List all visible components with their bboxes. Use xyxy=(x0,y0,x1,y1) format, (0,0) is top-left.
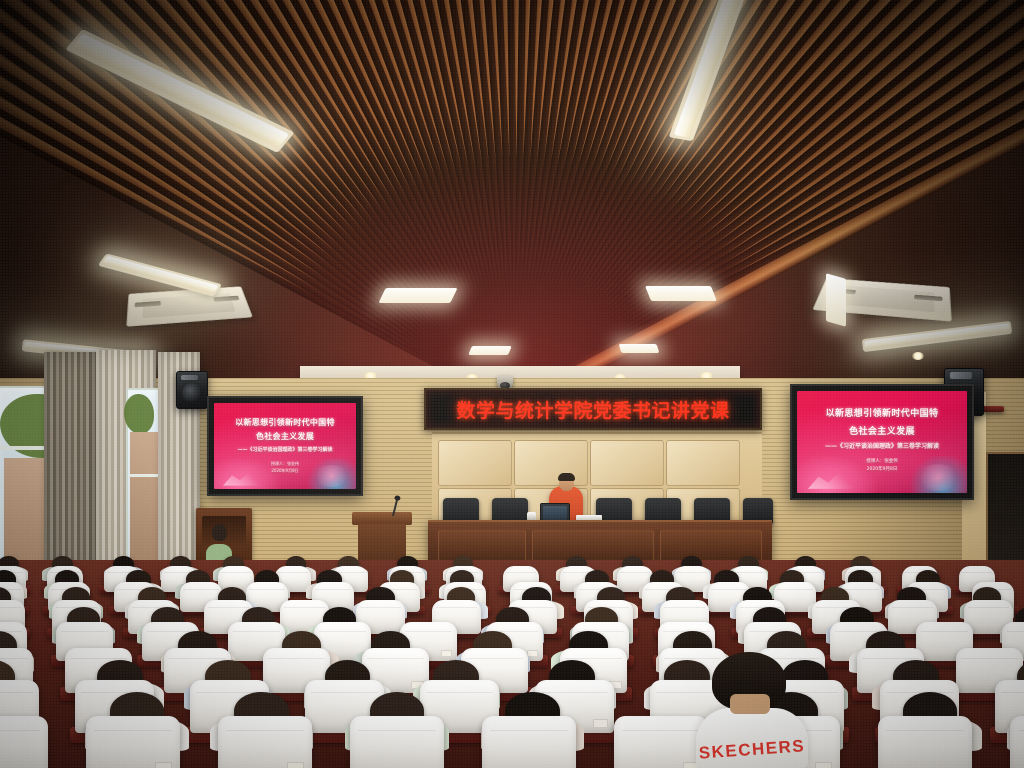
ceiling-vignette xyxy=(0,0,1024,390)
seat-seam xyxy=(886,730,965,731)
seat-number-tag xyxy=(287,762,304,768)
auditorium-seat[interactable] xyxy=(0,716,48,768)
seat-seam xyxy=(0,730,40,731)
auditorium-seat[interactable] xyxy=(218,716,312,768)
seat-seam xyxy=(268,658,324,659)
seat-seam xyxy=(367,658,423,659)
left-slide-date: 2020年9月8日 xyxy=(214,468,356,474)
seat-seam xyxy=(319,631,367,632)
led-banner: 数学与统计学院党委书记讲党课 xyxy=(424,388,762,430)
seat-seam xyxy=(426,692,492,693)
seat-seam xyxy=(921,631,969,632)
seat-back xyxy=(350,716,444,768)
right-slide-title-line1: 以新思想引领新时代中国特 xyxy=(797,406,967,419)
seat-seam xyxy=(315,589,350,590)
seat-number-tag xyxy=(815,762,832,768)
seat-seam xyxy=(278,572,308,573)
seat-seam xyxy=(70,658,126,659)
seat-seam xyxy=(664,658,720,659)
seat-number-tag xyxy=(155,762,172,768)
seat-seam xyxy=(284,607,325,608)
seat-seam xyxy=(0,692,33,693)
seat-seam xyxy=(405,631,453,632)
seat-back xyxy=(482,716,576,768)
seat-seam xyxy=(1018,730,1024,731)
seat-seam xyxy=(1007,631,1024,632)
seat-seam xyxy=(961,658,1017,659)
seat-seam xyxy=(311,692,377,693)
right-slide-date: 2020年9月8日 xyxy=(797,466,967,472)
seat-seam xyxy=(620,572,650,573)
seat-seam xyxy=(436,607,477,608)
seat-seam xyxy=(1001,692,1024,693)
seat-seam xyxy=(226,730,305,731)
side-desk-person-head xyxy=(212,524,227,541)
left-slide-subtitle: ——《习近平谈治国理政》第三卷学习解读 xyxy=(214,446,356,453)
seat-seam xyxy=(862,658,918,659)
seat-seam xyxy=(94,730,173,731)
seat-seam xyxy=(711,589,746,590)
seat-seam xyxy=(968,607,1009,608)
seat-seam xyxy=(466,658,522,659)
led-banner-text: 数学与统计学院党委书记讲党课 xyxy=(426,390,760,428)
seat-seam xyxy=(541,692,607,693)
seat-seam xyxy=(147,631,195,632)
seat-seam xyxy=(208,607,249,608)
seat-seam xyxy=(61,631,109,632)
left-led-screen[interactable]: 以新思想引领新时代中国特 色社会主义发展 ——《习近平谈治国理政》第三卷学习解读… xyxy=(207,396,363,496)
seat-back xyxy=(218,716,312,768)
right-slide-presenter: 授课人：张金伟 xyxy=(797,458,967,464)
audio-speaker-left xyxy=(176,371,208,409)
seat-seam xyxy=(622,730,701,731)
auditorium-seat[interactable] xyxy=(1010,716,1024,768)
seat-back xyxy=(878,716,972,768)
right-led-screen[interactable]: 以新思想引领新时代中国特 色社会主义发展 ——《习近平谈治国理政》第三卷学习解读… xyxy=(790,384,974,500)
right-slide-title-line2: 色社会主义发展 xyxy=(797,424,967,437)
seat-seam xyxy=(221,572,251,573)
auditorium-seat[interactable] xyxy=(350,716,444,768)
seat-seam xyxy=(249,589,284,590)
seat-seam xyxy=(0,607,21,608)
auditorium-seat[interactable] xyxy=(878,716,972,768)
left-slide-presenter: 授课人：张金伟 xyxy=(214,461,356,467)
seat-seam xyxy=(0,658,28,659)
soffit-downlight-6 xyxy=(912,352,924,360)
seat-seam xyxy=(358,730,437,731)
seat-seam xyxy=(892,607,933,608)
seat-seam xyxy=(835,631,883,632)
seat-number-tag xyxy=(593,719,608,727)
seat-seam xyxy=(565,658,621,659)
seat-back xyxy=(86,716,180,768)
seat-seam xyxy=(490,730,569,731)
seat-seam xyxy=(360,607,401,608)
seat-back xyxy=(1010,716,1024,768)
seat-seam xyxy=(734,572,764,573)
left-slide-title-line1: 以新思想引领新时代中国特 xyxy=(214,417,356,428)
seat-seam xyxy=(777,589,812,590)
foreground-attendee-skechers-neck xyxy=(730,694,770,714)
left-slide-title-line2: 色社会主义发展 xyxy=(214,431,356,442)
seat-seam xyxy=(677,572,707,573)
seat-seam xyxy=(664,607,705,608)
right-slide-subtitle: ——《习近平谈治国理政》第三卷学习解读 xyxy=(797,441,967,450)
seat-number-tag xyxy=(441,650,452,657)
seat-seam xyxy=(183,589,218,590)
seat-seam xyxy=(233,631,281,632)
auditorium-seat[interactable] xyxy=(482,716,576,768)
seat-seam xyxy=(169,658,225,659)
seat-seam xyxy=(506,572,536,573)
seat-back xyxy=(0,716,48,768)
seat-seam xyxy=(843,589,878,590)
curtain-left-dark xyxy=(44,352,102,580)
seat-seam xyxy=(962,572,992,573)
presenter-hair xyxy=(558,473,575,481)
lecture-hall-photo: 以新思想引领新时代中国特 色社会主义发展 ——《习近平谈治国理政》第三卷学习解读… xyxy=(0,0,1024,768)
auditorium-seat[interactable] xyxy=(86,716,180,768)
